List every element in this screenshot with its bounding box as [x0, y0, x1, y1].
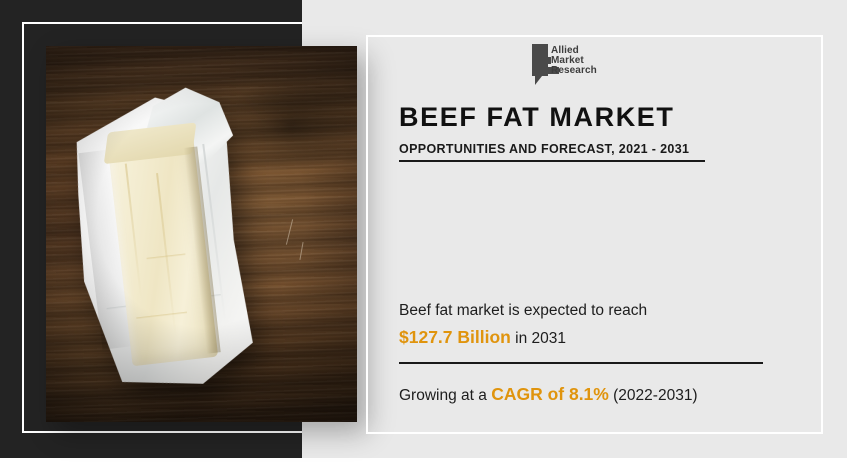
page-title: BEEF FAT MARKET: [399, 102, 675, 133]
subtitle-underline: [399, 160, 705, 162]
allied-market-research-logo: Allied Market Research: [532, 44, 606, 88]
logo-bar-1: [537, 47, 545, 54]
product-photo: [46, 46, 357, 422]
stat-divider: [399, 362, 763, 364]
cagr-value: CAGR of 8.1%: [491, 384, 609, 404]
photo-vignette: [46, 46, 357, 422]
cagr-statement: Growing at a CAGR of 8.1% (2022-2031): [399, 384, 698, 405]
logo-bubble-tail: [535, 76, 549, 85]
market-size-suffix: in 2031: [511, 330, 566, 347]
cagr-suffix: (2022-2031): [609, 387, 698, 404]
content-area: Allied Market Research BEEF FAT MARKET O…: [399, 40, 799, 420]
logo-bar-2: [537, 57, 551, 64]
market-size-prefix: Beef fat market is expected to reach: [399, 302, 647, 319]
cagr-prefix: Growing at a: [399, 387, 491, 404]
market-size-value: $127.7 Billion: [399, 327, 511, 347]
infographic-stage: Allied Market Research BEEF FAT MARKET O…: [0, 0, 847, 470]
market-size-statement: Beef fat market is expected to reach $12…: [399, 298, 799, 352]
logo-text-research: Research: [551, 66, 597, 76]
page-subtitle: OPPORTUNITIES AND FORECAST, 2021 - 2031: [399, 142, 689, 156]
